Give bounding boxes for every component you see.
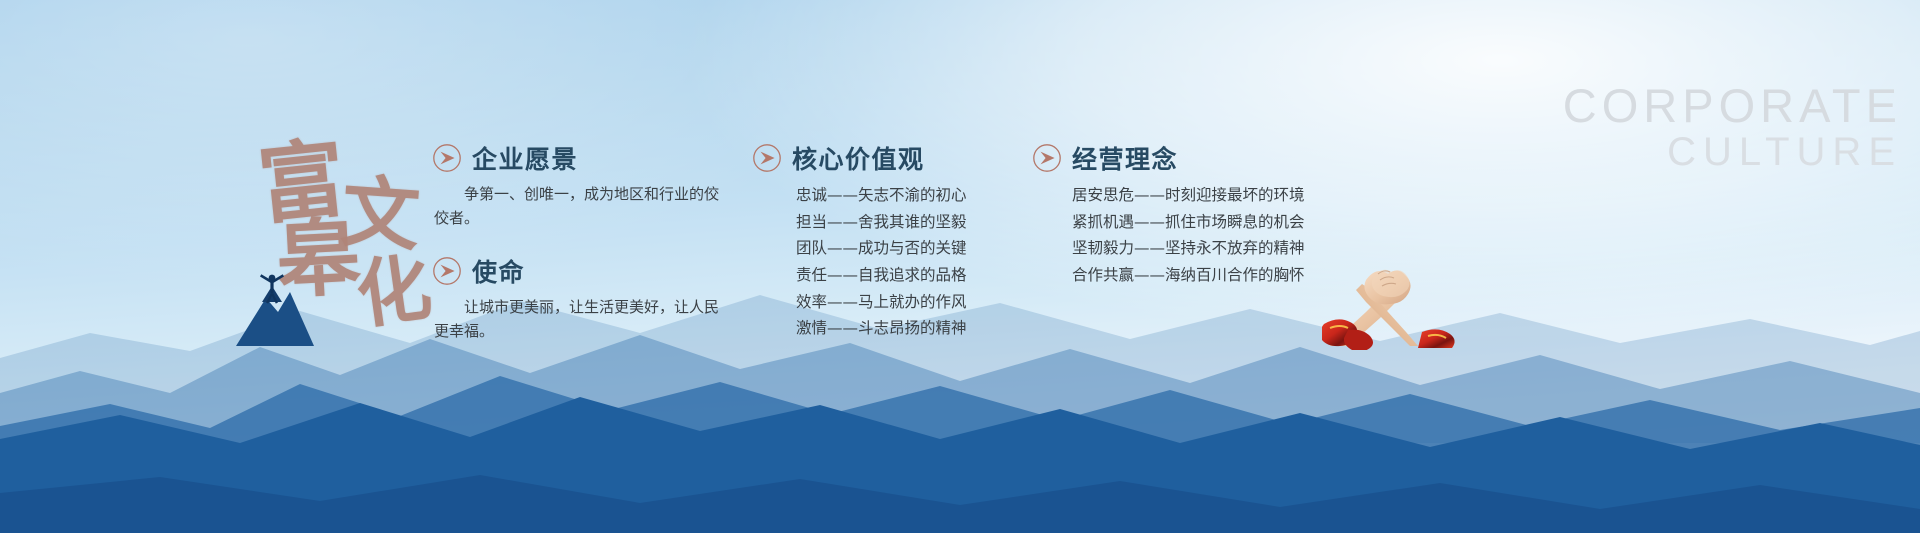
watermark-line-2: CULTURE (1563, 132, 1902, 173)
philosophy-list: 居安思危——时刻迎接最坏的环境 紧抓机遇——抓住市场瞬息的机会 坚韧毅力——坚持… (1072, 182, 1332, 289)
column-management-philosophy: 经营理念 居安思危——时刻迎接最坏的环境 紧抓机遇——抓住市场瞬息的机会 坚韧毅… (1032, 140, 1332, 289)
circle-arrow-right-icon (752, 143, 782, 173)
list-item: 效率——马上就办的作风 (796, 289, 1002, 316)
circle-arrow-right-icon (432, 143, 462, 173)
corporate-culture-banner: CORPORATE CULTURE 富 皋 文 化 (0, 0, 1920, 533)
circle-arrow-right-icon (432, 256, 462, 286)
core-values-list: 忠诚——矢志不渝的初心 担当——舍我其谁的坚毅 团队——成功与否的关键 责任——… (796, 182, 1002, 342)
vision-heading-row: 企业愿景 (432, 140, 732, 176)
clasped-hands-photo (1322, 258, 1492, 350)
list-item: 激情——斗志昂扬的精神 (796, 315, 1002, 342)
watermark-line-1: CORPORATE (1563, 82, 1902, 130)
list-item: 担当——舍我其谁的坚毅 (796, 209, 1002, 236)
list-item: 责任——自我追求的品格 (796, 262, 1002, 289)
mountain-range-front (0, 343, 1920, 533)
section-vision: 企业愿景 争第一、创唯一，成为地区和行业的佼佼者。 (432, 140, 732, 231)
mission-title: 使命 (472, 253, 525, 289)
list-item: 居安思危——时刻迎接最坏的环境 (1072, 182, 1332, 209)
vision-title: 企业愿景 (472, 140, 578, 176)
list-item: 坚韧毅力——坚持永不放弃的精神 (1072, 235, 1332, 262)
core-values-heading-row: 核心价值观 (752, 140, 1002, 176)
section-mission: 使命 让城市更美丽，让生活更美好，让人民更幸福。 (432, 253, 732, 344)
mission-heading-row: 使命 (432, 253, 732, 289)
column-core-values: 核心价值观 忠诚——矢志不渝的初心 担当——舍我其谁的坚毅 团队——成功与否的关… (752, 140, 1002, 342)
core-values-title: 核心价值观 (792, 140, 925, 176)
mountain-climber-silhouette (226, 268, 318, 346)
list-item: 紧抓机遇——抓住市场瞬息的机会 (1072, 209, 1332, 236)
mission-text: 让城市更美丽，让生活更美好，让人民更幸福。 (434, 295, 732, 344)
list-item: 忠诚——矢志不渝的初心 (796, 182, 1002, 209)
column-vision-mission: 企业愿景 争第一、创唯一，成为地区和行业的佼佼者。 使命 让城市更美丽，让生活更… (432, 140, 732, 349)
philosophy-title: 经营理念 (1072, 140, 1178, 176)
list-item: 合作共赢——海纳百川合作的胸怀 (1072, 262, 1332, 289)
list-item: 团队——成功与否的关键 (796, 235, 1002, 262)
vision-text: 争第一、创唯一，成为地区和行业的佼佼者。 (434, 182, 732, 231)
watermark-corporate-culture: CORPORATE CULTURE (1563, 82, 1902, 173)
philosophy-heading-row: 经营理念 (1032, 140, 1332, 176)
circle-arrow-right-icon (1032, 143, 1062, 173)
